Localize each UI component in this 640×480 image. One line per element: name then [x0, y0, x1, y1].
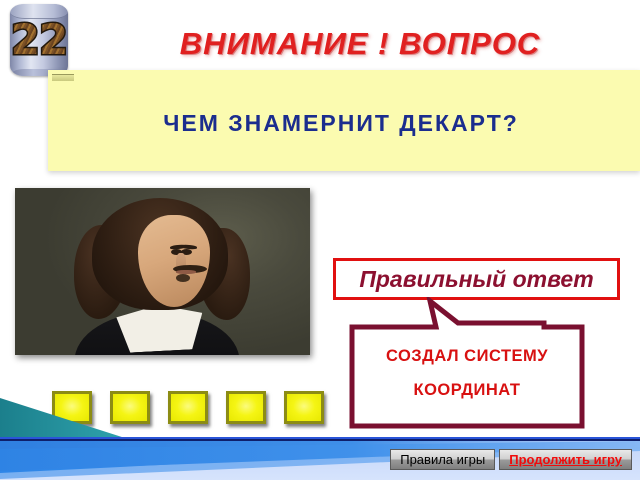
- question-number-badge: 22 22: [10, 4, 68, 76]
- rules-button[interactable]: Правила игры: [390, 449, 495, 470]
- card-item-2[interactable]: [110, 391, 150, 424]
- answer-callout-box: СОЗДАЛ СИСТЕМУ КООРДИНАТ: [348, 297, 586, 430]
- card-item-5[interactable]: [284, 391, 324, 424]
- descartes-portrait-image: [15, 188, 310, 355]
- correct-answer-label: Правильный ответ: [359, 266, 593, 293]
- question-panel: ЧЕМ ЗНАМЕРНИТ ДЕКАРТ?: [48, 70, 640, 171]
- question-text: ЧЕМ ЗНАМЕРНИТ ДЕКАРТ?: [48, 110, 634, 137]
- slide-title: ВНИМАНИЕ ! ВОПРОС: [0, 26, 640, 62]
- continue-game-button[interactable]: Продолжить игру: [499, 449, 632, 470]
- answer-text: СОЗДАЛ СИСТЕМУ КООРДИНАТ: [358, 339, 576, 407]
- card-item-3[interactable]: [168, 391, 208, 424]
- portrait-chin-beard: [176, 274, 190, 282]
- presentation-slide: 22 22 ВНИМАНИЕ ! ВОПРОС ЧЕМ ЗНАМЕРНИТ ДЕ…: [0, 0, 640, 480]
- correct-answer-banner: Правильный ответ: [333, 258, 620, 300]
- answer-text-line1: СОЗДАЛ СИСТЕМУ: [386, 347, 548, 365]
- question-number-text: 22: [10, 4, 68, 76]
- answer-text-line2: КООРДИНАТ: [358, 373, 576, 407]
- card-item-4[interactable]: [226, 391, 266, 424]
- footer-button-group: Правила игры Продолжить игру: [390, 449, 632, 470]
